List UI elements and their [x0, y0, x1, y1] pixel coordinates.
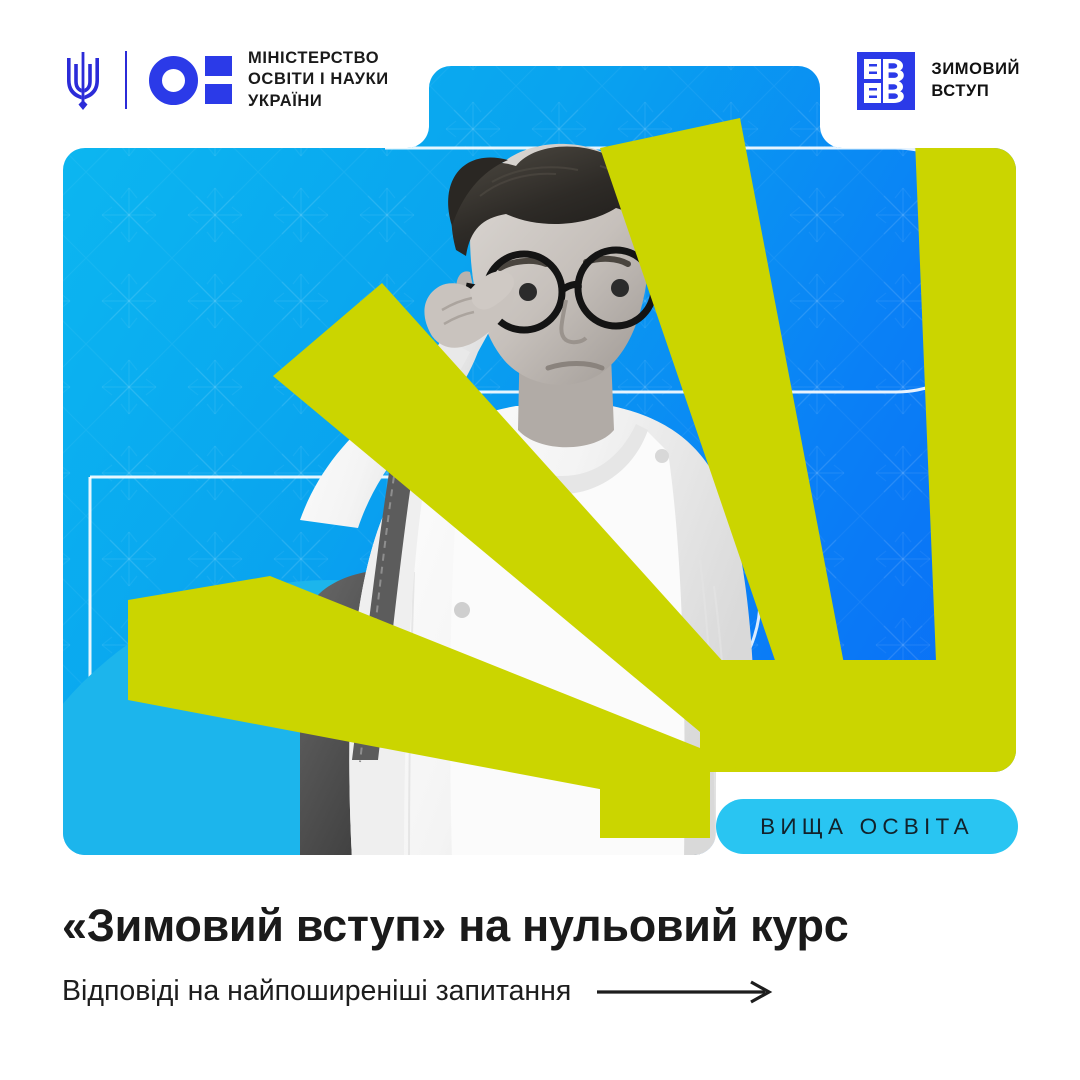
mon-bars-icon [205, 56, 232, 104]
zv-monogram-icon [857, 52, 915, 110]
mon-circle-icon [149, 56, 198, 105]
program-lockup: ЗИМОВИЙ ВСТУП [857, 52, 1020, 110]
page-subtitle: Відповіді на найпоширеніші запитання [62, 975, 571, 1008]
mon-o-bars-icon [149, 56, 232, 105]
subtitle-row: Відповіді на найпоширеніші запитання [62, 975, 777, 1008]
page-title: «Зимовий вступ» на нульовий курс [62, 900, 848, 952]
ministry-name: МІНІСТЕРСТВО ОСВІТИ І НАУКИ УКРАЇНИ [248, 48, 389, 112]
ministry-lockup: МІНІСТЕРСТВО ОСВІТИ І НАУКИ УКРАЇНИ [63, 48, 389, 112]
page-footer: «Зимовий вступ» на нульовий курс Відпові… [0, 880, 1080, 1080]
program-name: ЗИМОВИЙ ВСТУП [931, 59, 1020, 103]
status-badge: ВИЩА ОСВІТА [716, 799, 1018, 854]
ukraine-trident-icon [63, 50, 103, 110]
arrow-right-icon [597, 979, 777, 1005]
lockup-divider [125, 51, 127, 109]
status-badge-label: ВИЩА ОСВІТА [760, 814, 974, 840]
page-header: МІНІСТЕРСТВО ОСВІТИ І НАУКИ УКРАЇНИ ЗИМО… [0, 0, 1080, 148]
